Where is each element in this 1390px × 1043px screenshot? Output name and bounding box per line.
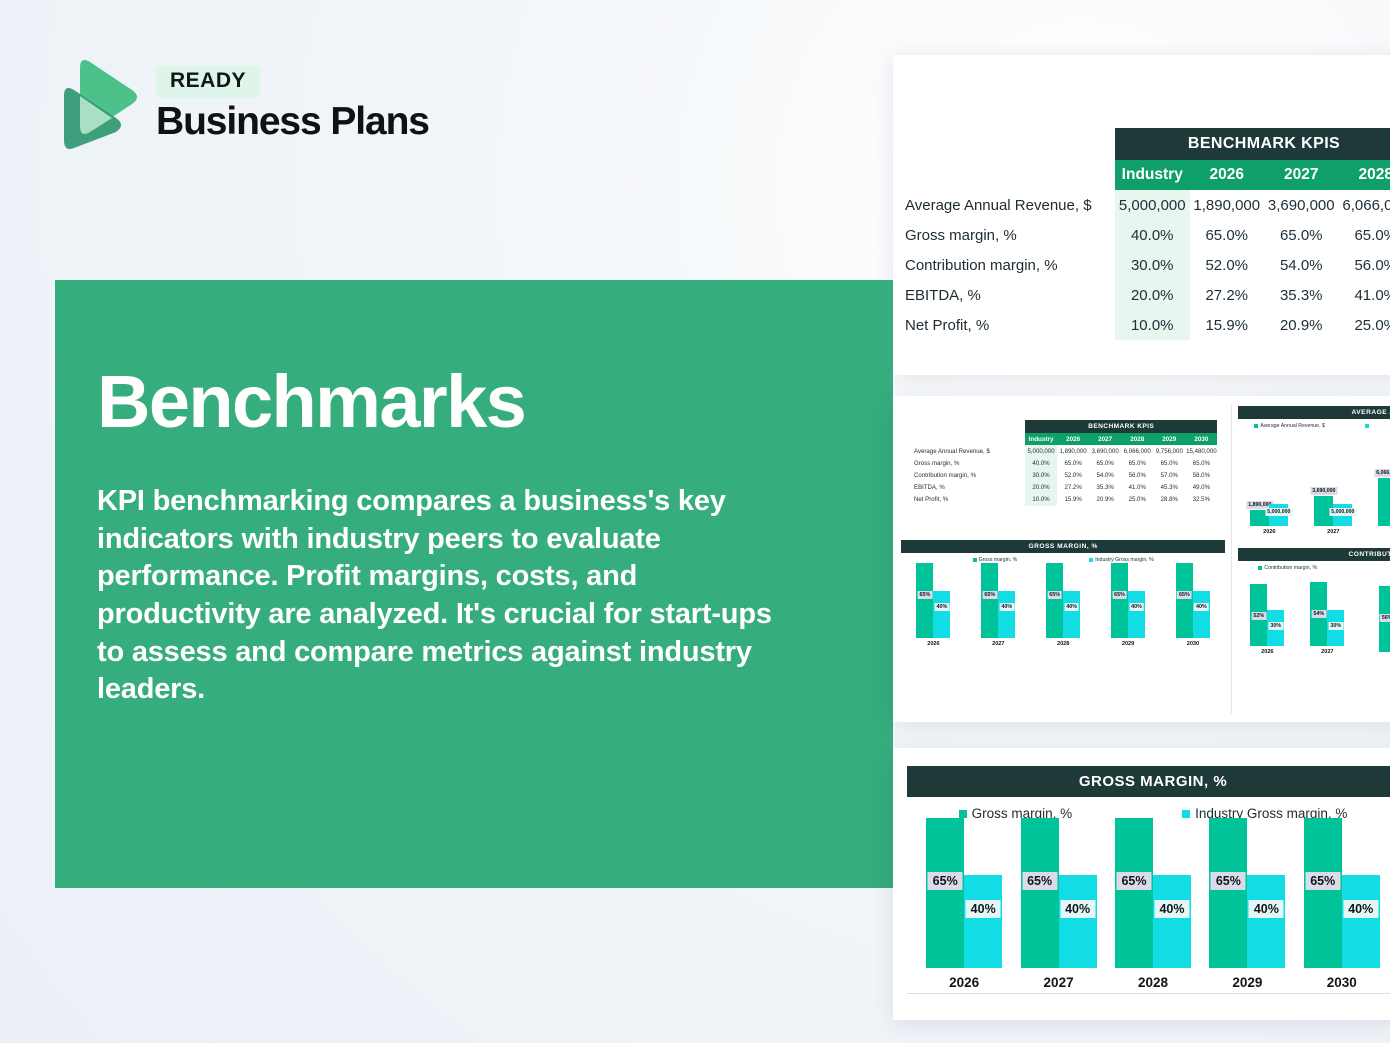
col-2030: 2030 [1185,433,1217,445]
table-row: Gross margin, % 40.0% 65.0% 65.0% 65.0% [893,220,1390,250]
bar-group: 6,066,0002028 [1378,426,1390,535]
table-row: Net Profit, % 10.0% 15.9% 20.9% 25.0% [893,310,1390,340]
col-2028: 2028 [1121,433,1153,445]
brand-logo: READY Business Plans [60,52,429,150]
row-label: EBITDA, % [909,482,1025,494]
bar-value-label: 6,066,000 [1374,469,1390,477]
benchmark-kpis-table-large: BENCHMARK KPIS Industry 2026 2027 2028 A… [893,55,1390,340]
table-row: EBITDA, % 20.0% 27.2% 35.3% 41.0% [893,280,1390,310]
bar-group: 56% [1370,574,1390,655]
bar-gross-margin: 65% [1046,563,1063,638]
bar-gross-margin: 65% [981,563,998,638]
cell-2029: 65.0% [1153,457,1185,469]
cell-2028: 25.0% [1121,494,1153,506]
cell-2028: 41.0% [1121,482,1153,494]
bar-value-label: 40% [966,900,1001,918]
chart-gross-margin-mini: GROSS MARGIN, % Gross margin, % Industry… [901,540,1225,647]
cell-2026: 15.9% [1190,310,1265,340]
col-2028: 2028 [1339,160,1390,190]
x-tick-label: 2027 [1316,529,1350,535]
bar-value-label: 65% [1112,591,1127,599]
cell-2027: 20.9% [1264,310,1339,340]
x-tick-label: 2027 [1021,975,1097,990]
ready-badge: READY [156,65,260,98]
col-2027: 2027 [1089,433,1121,445]
bar-value-label: 56% [1380,614,1390,622]
bar-value-label: 65% [918,591,933,599]
bar-industry: 40% [998,591,1015,638]
chart-plot-area: 52%30%2026 54%30%2027 56% [1238,577,1390,655]
x-tick-label: 2028 [1046,641,1080,647]
kpi-table: BENCHMARK KPIS Industry 2026 2027 2028 A… [893,128,1390,340]
bar-value-label: 52% [1251,612,1266,620]
cell-industry: 30.0% [1025,469,1057,481]
row-label: Net Profit, % [909,494,1025,506]
row-label: Gross margin, % [909,457,1025,469]
x-tick-label: 2027 [1310,649,1344,655]
row-label: Contribution margin, % [893,250,1115,280]
chart-plot-area: 1,890,0005,000,0002026 3,690,0005,000,00… [1238,435,1390,535]
cell-2027: 3,690,000 [1264,190,1339,220]
bar-group: 65%40%2028 [1115,813,1191,990]
chart-title: AVERAGE ANN [1238,406,1390,419]
cell-2028: 41.0% [1339,280,1390,310]
bar-group: 1,890,0005,000,0002026 [1250,426,1288,535]
bar-gross-margin: 65% [1209,818,1247,968]
table-row: Average Annual Revenue, $ 5,000,000 1,89… [909,445,1217,457]
kpi-table-mini: BENCHMARK KPIS Industry 2026 2027 2028 2… [909,420,1217,506]
x-tick-label: 2027 [981,641,1015,647]
x-tick-label: 2029 [1209,975,1285,990]
table-row: EBITDA, % 20.0% 27.2% 35.3% 41.0% 45.3% … [909,482,1217,494]
bar-group: 65%40%2026 [916,560,950,647]
cell-2029: 57.0% [1153,469,1185,481]
bar-value-label: 30% [1328,622,1343,630]
bar-group: 65%40%2029 [1111,560,1145,647]
cell-2029: 45.3% [1153,482,1185,494]
col-2029: 2029 [1153,433,1185,445]
play-triangle-logo-icon [60,52,140,150]
bar-group: 65%40%2027 [981,560,1015,647]
cell-2026: 27.2% [1057,482,1089,494]
bar-value-label: 40% [1343,900,1378,918]
cell-2028: 6,066,000 [1121,445,1153,457]
cell-2029: 9,756,000 [1153,445,1185,457]
bar-industry: 40% [1063,591,1080,638]
row-label: Net Profit, % [893,310,1115,340]
bar-gross-margin: 65% [926,818,964,968]
cell-2027: 65.0% [1089,457,1121,469]
cell-2030: 32.5% [1185,494,1217,506]
x-tick-label: 2026 [1252,529,1286,535]
chart-title: GROSS MARGIN, % [901,540,1225,553]
bar-contribution-margin: 54% [1310,582,1327,646]
chart-plot-area: 65%40%2026 65%40%2027 65%40%2028 65%40%2… [901,569,1225,647]
bar-gross-margin: 65% [1021,818,1059,968]
cell-industry: 20.0% [1025,482,1057,494]
table-row: Contribution margin, % 30.0% 52.0% 54.0%… [893,250,1390,280]
x-tick-label: 2028 [1380,529,1390,535]
benchmark-kpis-table-mini: BENCHMARK KPIS Industry 2026 2027 2028 2… [901,406,1225,506]
page-title: Benchmarks [97,365,803,439]
cell-2026: 52.0% [1057,469,1089,481]
cell-2027: 35.3% [1089,482,1121,494]
legend-swatch-icon [973,558,977,562]
bar-value-label: 40% [1064,603,1079,611]
cell-2027: 3,690,000 [1089,445,1121,457]
table-header-row: Industry 2026 2027 2028 [893,160,1390,190]
cell-2026: 1,890,000 [1057,445,1089,457]
col-2026: 2026 [1190,160,1265,190]
bar-group: 65%40%2027 [1021,813,1097,990]
table-title-row: BENCHMARK KPIS [893,128,1390,160]
screenshot-panel-top: BENCHMARK KPIS Industry 2026 2027 2028 A… [893,55,1390,375]
x-tick-label: 2026 [916,641,950,647]
bar-group: 65%40%2029 [1209,813,1285,990]
bar-value-label: 40% [935,603,950,611]
row-label: Contribution margin, % [909,469,1025,481]
cell-2030: 65.0% [1185,457,1217,469]
cell-2028: 25.0% [1339,310,1390,340]
x-tick-label: 2026 [1250,649,1284,655]
bar-value-label: 65% [1116,872,1151,890]
bar-value-label: 30% [1268,622,1283,630]
table-title: BENCHMARK KPIS [1115,128,1390,160]
bar-contribution-margin: 52% [1250,584,1267,646]
bar-value-label: 5,000,000 [1329,508,1356,516]
screenshot-panel-middle: BENCHMARK KPIS Industry 2026 2027 2028 2… [893,396,1390,722]
cell-2028: 56.0% [1339,250,1390,280]
bar-industry: 5,000,000 [1333,504,1352,526]
bar-gross-margin: 65% [1115,818,1153,968]
bar-industry: 40% [1193,591,1210,638]
bar-group: 65%40%2028 [1046,560,1080,647]
cell-2026: 65.0% [1190,220,1265,250]
cell-2026: 27.2% [1190,280,1265,310]
row-label: Average Annual Revenue, $ [893,190,1115,220]
bar-value-label: 65% [928,872,963,890]
bar-industry: 30% [1267,610,1284,646]
bar-value-label: 65% [1047,591,1062,599]
hero-description: KPI benchmarking compares a business's k… [97,483,777,709]
bar-industry: 40% [1153,875,1191,968]
cell-2027: 35.3% [1264,280,1339,310]
bar-gross-margin: 65% [916,563,933,638]
table-row: Average Annual Revenue, $ 5,000,000 1,89… [893,190,1390,220]
bar-industry: 40% [1128,591,1145,638]
cell-2026: 15.9% [1057,494,1089,506]
bar-industry: 40% [1247,875,1285,968]
cell-2026: 65.0% [1057,457,1089,469]
bar-value-label: 40% [1060,900,1095,918]
bar-value-label: 40% [1194,603,1209,611]
bar-group: 3,690,0005,000,0002027 [1314,426,1352,535]
bar-group: 65%40%2030 [1304,813,1380,990]
bar-industry: 40% [1059,875,1097,968]
x-tick-label: 2030 [1176,641,1210,647]
row-label: EBITDA, % [893,280,1115,310]
bar-value-label: 40% [1154,900,1189,918]
cell-2030: 58.0% [1185,469,1217,481]
bar-industry: 40% [964,875,1002,968]
x-tick-label: 2028 [1115,975,1191,990]
cell-industry: 30.0% [1115,250,1190,280]
table-row: Gross margin, % 40.0% 65.0% 65.0% 65.0% … [909,457,1217,469]
cell-2028: 65.0% [1121,457,1153,469]
bar-group: 54%30%2027 [1310,568,1344,655]
chart-average-annual-revenue-mini: AVERAGE ANN Average Annual Revenue, $ 1,… [1238,406,1390,535]
bar-industry: 30% [1327,610,1344,646]
legend-swatch-icon [1365,424,1369,428]
table-header-row: Industry 2026 2027 2028 2029 2030 [909,433,1217,445]
bar-value-label: 65% [1305,872,1340,890]
table-title-row: BENCHMARK KPIS [909,420,1217,433]
legend-swatch-icon [1089,558,1093,562]
cell-industry: 5,000,000 [1115,190,1190,220]
col-2027: 2027 [1264,160,1339,190]
bar-value-label: 40% [1249,900,1284,918]
chart-title: CONTRIBUTION [1238,548,1390,561]
bar-gross-margin: 65% [1176,563,1193,638]
cell-industry: 10.0% [1115,310,1190,340]
bar-industry: 5,000,000 [1269,504,1288,526]
cell-2027: 65.0% [1264,220,1339,250]
chart-baseline [907,993,1390,994]
bar-group: 65%40%2030 [1176,560,1210,647]
bar-value-label: 3,690,000 [1310,487,1337,495]
col-2026: 2026 [1057,433,1089,445]
bar-value-label: 5,000,000 [1265,508,1292,516]
row-label: Average Annual Revenue, $ [909,445,1025,457]
hero-panel: Benchmarks KPI benchmarking compares a b… [55,280,893,888]
cell-2027: 20.9% [1089,494,1121,506]
chart-plot-area: 65%40%2026 65%40%2027 65%40%2028 65%40%2… [907,835,1390,990]
row-label: Gross margin, % [893,220,1115,250]
bar-value-label: 65% [1177,591,1192,599]
bar-industry: 40% [1342,875,1380,968]
x-tick-label: 2026 [926,975,1002,990]
chart-contribution-margin-mini: CONTRIBUTION Contribution margin, % 52%3… [1238,548,1390,655]
bar-value-label: 54% [1311,610,1326,618]
table-title: BENCHMARK KPIS [1025,420,1217,433]
bar-group: 52%30%2026 [1250,568,1284,655]
bar-value-label: 65% [1022,872,1057,890]
bar-value-label: 40% [1129,603,1144,611]
cell-2029: 28.8% [1153,494,1185,506]
cell-2027: 54.0% [1264,250,1339,280]
cell-2030: 49.0% [1185,482,1217,494]
brand-name: Business Plans [156,102,429,141]
bar-group: 65%40%2026 [926,813,1002,990]
cell-2027: 54.0% [1089,469,1121,481]
cell-industry: 40.0% [1025,457,1057,469]
bar-value-label: 65% [1211,872,1246,890]
x-tick-label: 2030 [1304,975,1380,990]
table-row: Contribution margin, % 30.0% 52.0% 54.0%… [909,469,1217,481]
cell-2026: 52.0% [1190,250,1265,280]
cell-industry: 20.0% [1115,280,1190,310]
cell-industry: 10.0% [1025,494,1057,506]
col-industry: Industry [1115,160,1190,190]
bar-value-label: 40% [999,603,1014,611]
bar-gross-margin: 65% [1304,818,1342,968]
chart-gross-margin-large: GROSS MARGIN, % Gross margin, % Industry… [893,748,1390,990]
cell-2028: 65.0% [1339,220,1390,250]
bar-revenue: 6,066,000 [1378,478,1390,526]
cell-2028: 56.0% [1121,469,1153,481]
screenshot-panel-bottom: GROSS MARGIN, % Gross margin, % Industry… [893,748,1390,1020]
cell-industry: 5,000,000 [1025,445,1057,457]
bar-contribution-margin: 56% [1379,586,1390,652]
cell-2026: 1,890,000 [1190,190,1265,220]
cell-2028: 6,066,000 [1339,190,1390,220]
bar-industry: 40% [933,591,950,638]
chart-title: GROSS MARGIN, % [907,766,1390,797]
table-row: Net Profit, % 10.0% 15.9% 20.9% 25.0% 28… [909,494,1217,506]
col-industry: Industry [1025,433,1057,445]
cell-2030: 15,480,000 [1185,445,1217,457]
bar-value-label: 65% [982,591,997,599]
cell-industry: 40.0% [1115,220,1190,250]
x-tick-label: 2029 [1111,641,1145,647]
bar-gross-margin: 65% [1111,563,1128,638]
